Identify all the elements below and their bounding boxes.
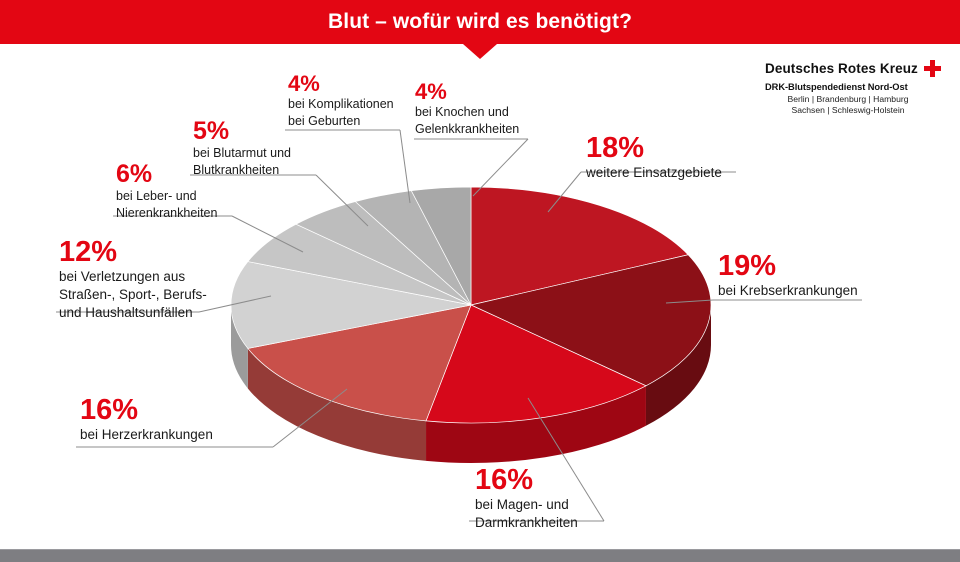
callout-bone: 4% bei Knochen und Gelenkkrankheiten: [415, 81, 519, 136]
footer-bar: [0, 547, 960, 562]
callout-stomach-pct: 16%: [475, 466, 578, 495]
callout-anaemia-pct: 5%: [193, 119, 291, 144]
callout-heart-line1: bei Herzerkrankungen: [80, 427, 213, 443]
callout-cancer: 19% bei Krebserkrankungen: [718, 252, 858, 299]
callout-anaemia: 5% bei Blutarmut und Blutkrankheiten: [193, 119, 291, 177]
callout-birth: 4% bei Komplikationen bei Geburten: [288, 73, 394, 128]
callout-anaemia-line1: bei Blutarmut und: [193, 146, 291, 161]
callout-other: 18% weitere Einsatzgebiete: [586, 134, 722, 181]
pie-chart-top-faces: [231, 187, 711, 423]
callout-bone-line1: bei Knochen und: [415, 105, 519, 120]
callout-birth-line2: bei Geburten: [288, 114, 394, 129]
callout-liver-line2: Nierenkrankheiten: [116, 206, 217, 221]
callout-bone-pct: 4%: [415, 81, 519, 103]
callout-heart-pct: 16%: [80, 396, 213, 425]
callout-heart: 16% bei Herzerkrankungen: [80, 396, 213, 443]
callout-other-line1: weitere Einsatzgebiete: [586, 165, 722, 181]
callout-stomach-line1: bei Magen- und: [475, 497, 578, 513]
callout-cancer-pct: 19%: [718, 252, 858, 281]
callout-injury-line1: bei Verletzungen aus: [59, 269, 207, 285]
callout-anaemia-line2: Blutkrankheiten: [193, 163, 291, 178]
callout-birth-pct: 4%: [288, 73, 394, 95]
callout-injury-line2: Straßen-, Sport-, Berufs-: [59, 287, 207, 303]
callout-birth-line1: bei Komplikationen: [288, 97, 394, 112]
callout-injury-pct: 12%: [59, 238, 207, 267]
callout-injury: 12% bei Verletzungen aus Straßen-, Sport…: [59, 238, 207, 320]
callout-bone-line2: Gelenkkrankheiten: [415, 122, 519, 137]
callout-injury-line3: und Haushaltsunfällen: [59, 305, 207, 321]
callout-cancer-line1: bei Krebserkrankungen: [718, 283, 858, 299]
infographic-canvas: Blut – wofür wird es benötigt? Deutsches…: [0, 0, 960, 562]
callout-other-pct: 18%: [586, 134, 722, 163]
callout-liver-line1: bei Leber- und: [116, 189, 217, 204]
callout-stomach-line2: Darmkrankheiten: [475, 515, 578, 531]
callout-stomach: 16% bei Magen- und Darmkrankheiten: [475, 466, 578, 531]
